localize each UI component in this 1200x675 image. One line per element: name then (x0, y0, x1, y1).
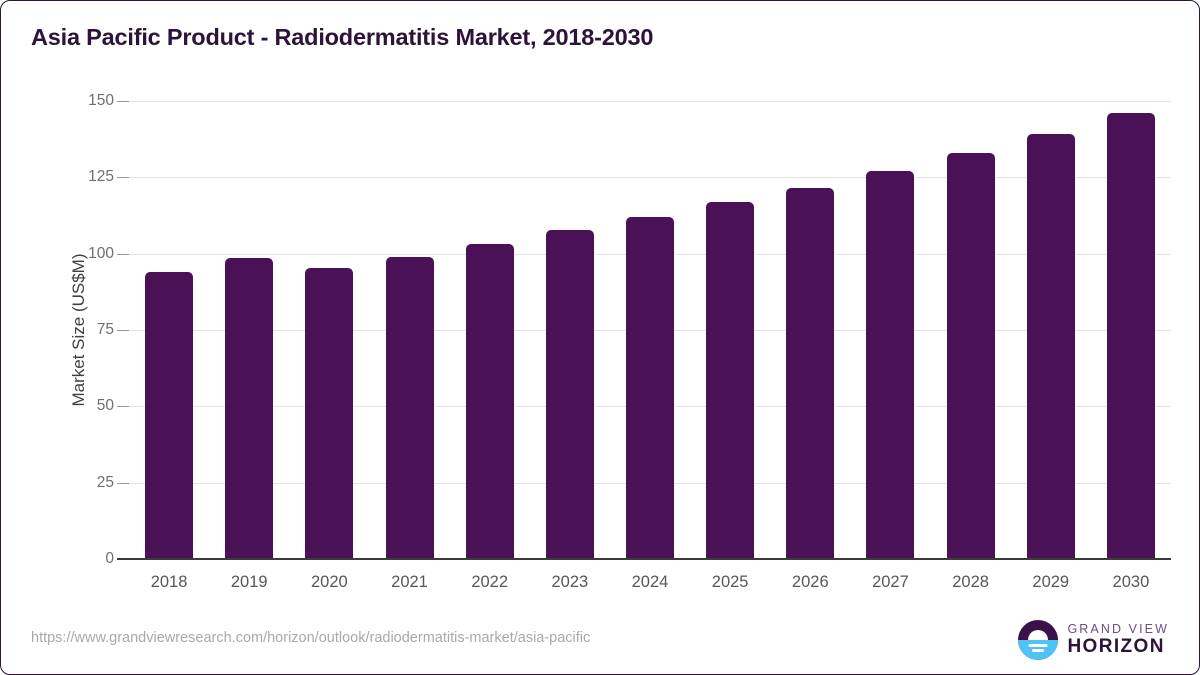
y-axis-tick-labels: 0255075100125150 (69, 101, 115, 559)
y-axis-title-container: Market Size (US$M) (39, 101, 40, 559)
bar-group: 2030 (1091, 101, 1171, 559)
chart-title: Asia Pacific Product - Radiodermatitis M… (31, 24, 653, 51)
logo-ray-upper (1029, 644, 1048, 647)
x-axis-tick-label: 2020 (311, 573, 348, 592)
x-axis-tick-label: 2030 (1113, 573, 1150, 592)
bar-group: 2021 (369, 101, 449, 559)
bar[interactable] (1107, 113, 1155, 559)
bar-group: 2019 (209, 101, 289, 559)
logo-text-bottom: HORIZON (1067, 637, 1169, 657)
y-axis-tick-marks (117, 101, 129, 559)
bar[interactable] (546, 230, 594, 559)
bar-group: 2018 (129, 101, 209, 559)
bar[interactable] (225, 258, 273, 559)
bar[interactable] (866, 171, 914, 559)
bar[interactable] (305, 268, 353, 559)
chart-card: Asia Pacific Product - Radiodermatitis M… (0, 0, 1200, 675)
y-axis-tick-mark (117, 177, 129, 178)
bar-group: 2024 (610, 101, 690, 559)
bar-series: 2018201920202021202220232024202520262027… (129, 101, 1171, 559)
bar-group: 2020 (289, 101, 369, 559)
y-axis-tick-mark (117, 101, 129, 102)
logo-ray-lower (1032, 649, 1044, 652)
logo-text: GRAND VIEW HORIZON (1067, 623, 1169, 656)
y-axis-tick-mark (117, 406, 129, 407)
bar[interactable] (706, 202, 754, 559)
y-axis-tick-label: 25 (97, 474, 114, 492)
bar-group: 2026 (770, 101, 850, 559)
y-axis-tick-mark (117, 254, 129, 255)
x-axis-tick-label: 2026 (792, 573, 829, 592)
logo-text-top: GRAND VIEW (1067, 623, 1169, 636)
y-axis-tick-mark (117, 330, 129, 331)
bar[interactable] (947, 153, 995, 559)
grand-view-horizon-logo: GRAND VIEW HORIZON (1018, 618, 1169, 662)
y-axis-tick-label: 75 (97, 321, 114, 339)
x-axis-tick-label: 2023 (551, 573, 588, 592)
x-axis-line (117, 558, 1171, 560)
bar-group: 2022 (450, 101, 530, 559)
bar[interactable] (786, 188, 834, 559)
x-axis-tick-label: 2028 (952, 573, 989, 592)
y-axis-tick-label: 0 (105, 550, 114, 568)
x-axis-tick-label: 2019 (231, 573, 268, 592)
bar-group: 2029 (1011, 101, 1091, 559)
y-axis-tick-label: 50 (97, 397, 114, 415)
bar-group: 2027 (850, 101, 930, 559)
horizon-sun-icon (1018, 620, 1058, 660)
x-axis-tick-label: 2025 (712, 573, 749, 592)
x-axis-tick-label: 2022 (471, 573, 508, 592)
source-url[interactable]: https://www.grandviewresearch.com/horizo… (31, 630, 590, 646)
y-axis-tick-label: 125 (88, 168, 114, 186)
bar[interactable] (145, 272, 193, 559)
y-axis-tick-label: 150 (88, 92, 114, 110)
bar[interactable] (386, 257, 434, 559)
x-axis-tick-label: 2021 (391, 573, 428, 592)
x-axis-tick-label: 2018 (151, 573, 188, 592)
bar[interactable] (466, 244, 514, 559)
y-axis-tick-mark (117, 483, 129, 484)
bar-group: 2023 (530, 101, 610, 559)
bar-group: 2025 (690, 101, 770, 559)
bar-group: 2028 (931, 101, 1011, 559)
x-axis-tick-label: 2029 (1032, 573, 1069, 592)
logo-sun-shape (1028, 630, 1048, 640)
bar[interactable] (626, 217, 674, 559)
x-axis-tick-label: 2027 (872, 573, 909, 592)
bar[interactable] (1027, 134, 1075, 559)
plot-area: 2018201920202021202220232024202520262027… (129, 101, 1171, 559)
x-axis-tick-label: 2024 (632, 573, 669, 592)
y-axis-tick-label: 100 (88, 245, 114, 263)
